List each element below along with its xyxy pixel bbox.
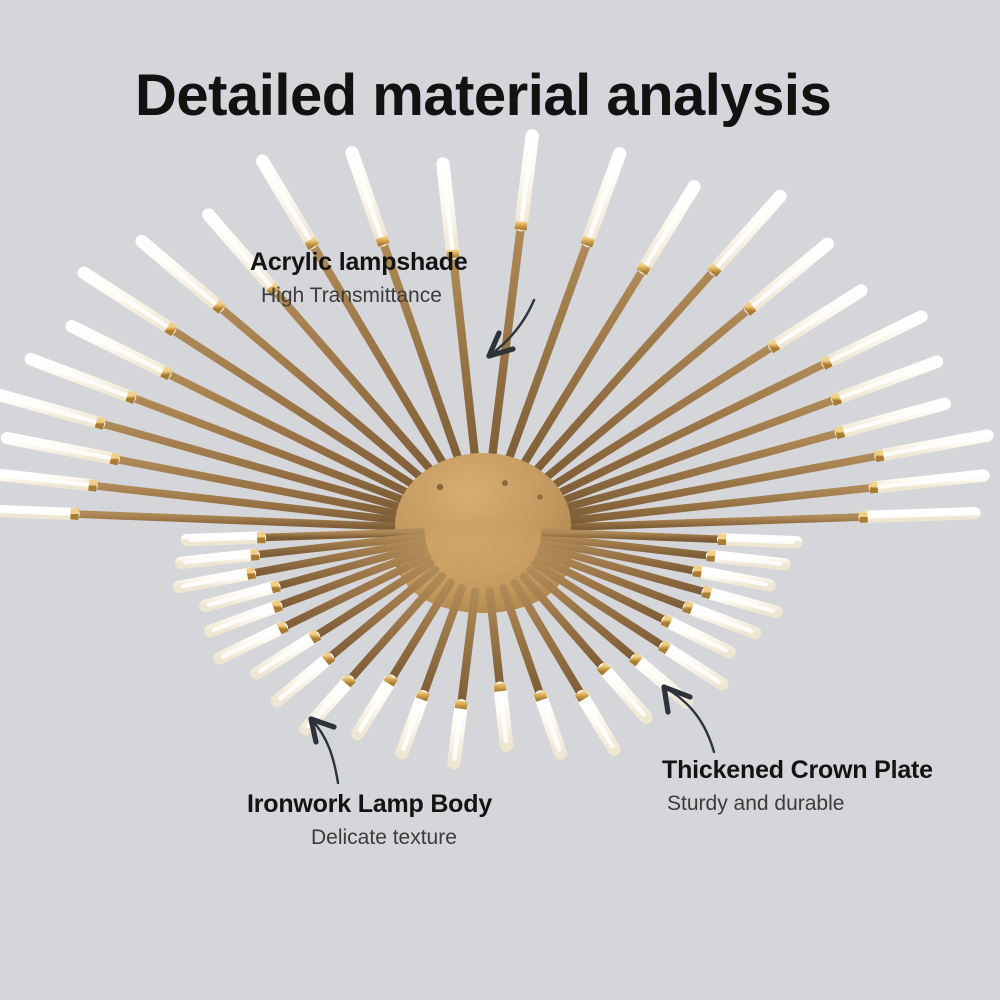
- callout-title-ironwork: Ironwork Lamp Body: [247, 790, 492, 819]
- brass-collar: [663, 619, 670, 623]
- lamp-arm-rod: [535, 346, 774, 497]
- brass-collar: [168, 327, 175, 331]
- callout-arrow-ironwork: [311, 719, 338, 783]
- lampshade-highlight: [0, 395, 96, 422]
- lampshade-highlight: [606, 672, 643, 715]
- brass-collar: [747, 306, 753, 311]
- lampshade-highlight: [223, 629, 279, 656]
- brass-collar: [311, 634, 318, 638]
- brass-collar: [310, 240, 314, 247]
- lamp-arm: [490, 592, 507, 746]
- lampshade-highlight: [360, 684, 389, 731]
- lampshade-highlight: [11, 439, 111, 458]
- lampshade-highlight: [692, 609, 751, 631]
- brass-collar: [389, 677, 393, 684]
- lampshade-highlight: [840, 363, 933, 398]
- brass-collar: [89, 485, 97, 486]
- lampshade-highlight: [726, 540, 792, 543]
- callout-subtitle-ironwork: Delicate texture: [311, 826, 492, 850]
- brass-collar: [521, 222, 522, 230]
- brass-collar: [247, 573, 255, 575]
- brass-collar: [127, 396, 135, 399]
- image-canvas: Detailed material analysis Acrylic lamps…: [0, 0, 1000, 1000]
- brass-collar: [633, 657, 639, 662]
- brass-collar: [272, 586, 280, 588]
- brass-collar: [325, 656, 331, 661]
- brass-collar: [684, 606, 692, 609]
- lamp-arm: [524, 196, 780, 484]
- lampshade-highlight: [589, 158, 618, 238]
- brass-collar: [216, 304, 222, 309]
- brass-collar: [586, 238, 589, 246]
- lampshade-highlight: [584, 699, 612, 746]
- lampshade-highlight: [668, 649, 719, 682]
- lampshade-highlight: [844, 405, 941, 432]
- lampshade-highlight: [717, 199, 777, 267]
- callout-subtitle-crown: Sturdy and durable: [667, 792, 933, 816]
- lampshade-highlight: [830, 318, 918, 361]
- lampshade-highlight: [35, 361, 128, 396]
- brass-collar: [163, 371, 170, 375]
- brass-collar: [836, 432, 844, 434]
- brass-collar: [823, 361, 830, 365]
- callout-thickened-crown-plate: Thickened Crown Plate Sturdy and durable: [662, 756, 933, 816]
- brass-collar: [346, 678, 351, 684]
- brass-collar: [870, 487, 878, 488]
- brass-collar: [96, 422, 104, 424]
- callout-title-acrylic: Acrylic lampshade: [250, 248, 468, 277]
- brass-collar: [461, 701, 462, 709]
- callout-ironwork-lamp-body: Ironwork Lamp Body Delicate texture: [247, 790, 492, 850]
- brass-collar: [833, 398, 841, 401]
- brass-collar: [601, 666, 606, 672]
- lampshade-highlight: [353, 157, 381, 238]
- lampshade-highlight: [214, 608, 274, 630]
- lamp-arm-rod: [166, 373, 428, 503]
- lampshade-highlight: [280, 661, 325, 699]
- lampshade-highlight: [87, 275, 167, 327]
- lampshade-highlight: [265, 164, 310, 240]
- callout-acrylic-lampshade: Acrylic lampshade High Transmittance: [250, 248, 468, 308]
- lampshade-highlight: [753, 247, 825, 307]
- brass-collar: [770, 344, 777, 348]
- brass-collar: [661, 645, 668, 649]
- lampshade-highlight: [670, 623, 726, 651]
- lampshade-highlight: [646, 190, 692, 265]
- brass-collar: [539, 692, 542, 700]
- callout-subtitle-acrylic: High Transmittance: [261, 284, 468, 308]
- brass-collar: [876, 455, 884, 457]
- lampshade-highlight: [191, 538, 257, 540]
- lampshade-highlight: [883, 436, 983, 455]
- brass-collar: [421, 692, 424, 700]
- brass-collar: [111, 458, 119, 460]
- lamp-arm: [454, 592, 475, 763]
- brass-collar: [707, 556, 715, 557]
- brass-collar: [251, 554, 259, 555]
- brass-collar: [279, 626, 286, 630]
- page-title: Detailed material analysis: [135, 62, 831, 129]
- brass-collar: [712, 267, 717, 273]
- lampshade-highlight: [260, 639, 311, 671]
- callout-title-crown: Thickened Crown Plate: [662, 756, 933, 785]
- lamp-arm-rod: [170, 328, 431, 496]
- lampshade-highlight: [75, 328, 162, 371]
- brass-collar: [273, 605, 281, 608]
- lampshade-highlight: [145, 244, 216, 304]
- lamp-illustration: [0, 0, 1000, 1000]
- lampshade-highlight: [777, 293, 858, 344]
- brass-collar: [694, 571, 702, 573]
- brass-collar: [500, 683, 501, 691]
- brass-collar: [381, 237, 384, 245]
- brass-collar: [642, 265, 646, 272]
- brass-collar: [580, 692, 584, 699]
- lamp-arm-rod: [539, 362, 828, 503]
- brass-collar: [703, 591, 711, 593]
- lamp-arm: [263, 161, 452, 477]
